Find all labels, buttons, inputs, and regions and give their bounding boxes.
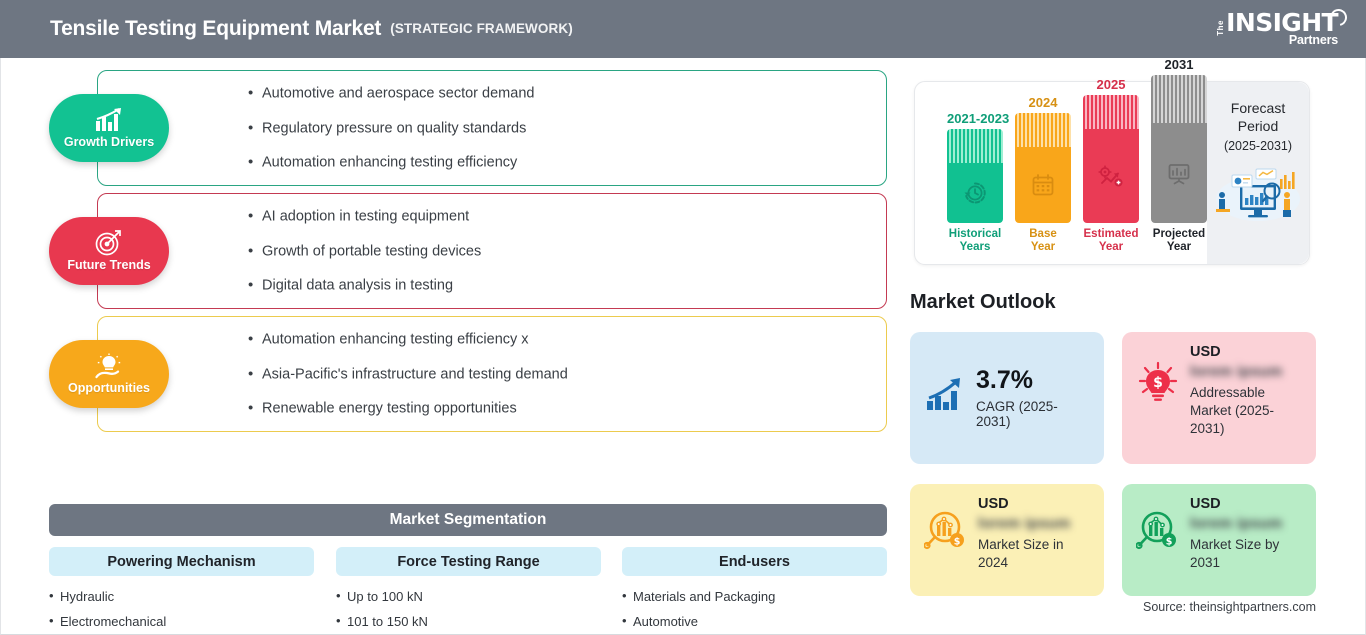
strategy-card-growth-drivers: Automotive and aerospace sector demand R…	[97, 70, 887, 186]
timeline-bar-year: 2025	[1083, 77, 1139, 92]
badge-opportunities[interactable]: Opportunities	[49, 340, 169, 408]
timeline-bar-solid	[1151, 123, 1207, 223]
market-outlook-title: Market Outlook	[910, 291, 1056, 314]
badge-label: Growth Drivers	[64, 135, 154, 149]
card-caption: Addressable Market (2025-2031)	[1190, 384, 1302, 437]
badge-future-trends[interactable]: Future Trends	[49, 217, 169, 285]
timeline-bar-historical: 2021-2023 Historical Years	[947, 111, 1003, 254]
segmentation-item-list: Hydraulic Electromechanical	[49, 590, 314, 628]
presentation-chart-icon	[1166, 160, 1192, 186]
svg-text:$: $	[1153, 375, 1163, 391]
forecast-title-line1: Forecast	[1231, 100, 1285, 116]
outlook-card-market-size-2031[interactable]: $ USD lorem ipsum Market Size by 2031	[1122, 484, 1316, 596]
list-item: AI adoption in testing equipment	[248, 209, 481, 224]
page-subtitle: (STRATEGIC FRAMEWORK)	[390, 21, 573, 37]
timeline-bar-year: 2031	[1151, 57, 1207, 72]
list-item: Regulatory pressure on quality standards	[248, 121, 534, 136]
page-header: Tensile Testing Equipment Market (STRATE…	[0, 0, 1366, 58]
list-item: Hydraulic	[49, 590, 314, 603]
strategy-card-opportunities: Automation enhancing testing efficiency …	[97, 316, 887, 432]
timeline-bar-label: Base Year	[1015, 228, 1071, 254]
timeline-bar-base: 2024	[1015, 95, 1071, 254]
forecast-period-title: Forecast Period	[1231, 100, 1285, 135]
bar-chart-arrow-icon	[92, 107, 126, 133]
gear-chart-icon	[1097, 163, 1125, 189]
svg-text:$: $	[954, 536, 961, 547]
timeline-label-line1: Projected	[1153, 228, 1205, 240]
timeline-bar-label: Projected Year	[1151, 228, 1207, 254]
currency-label: USD	[1190, 496, 1302, 512]
market-segmentation-title: Market Segmentation	[49, 504, 887, 536]
infographic-page: Tensile Testing Equipment Market (STRATE…	[0, 0, 1366, 635]
forecast-period-range: (2025-2031)	[1224, 139, 1292, 153]
blurred-value: lorem ipsum	[1190, 515, 1302, 532]
timeline-bar-solid	[1083, 129, 1139, 223]
list-item: Automation enhancing testing efficiency …	[248, 332, 568, 347]
list-item: Automotive and aerospace sector demand	[248, 86, 534, 101]
timeline-bar-solid	[1015, 147, 1071, 223]
outlook-card-cagr[interactable]: 3.7% CAGR (2025-2031)	[910, 332, 1104, 464]
timeline-bar-solid	[947, 163, 1003, 223]
source-attribution: Source: theinsightpartners.com	[1143, 600, 1316, 614]
growth-drivers-bullet-list: Automotive and aerospace sector demand R…	[248, 86, 534, 170]
lightbulb-dollar-icon: $	[1136, 360, 1180, 411]
card-caption: Market Size in 2024	[978, 536, 1090, 572]
timeline-label-line2: Year	[1099, 241, 1123, 253]
list-item: Asia-Pacific's infrastructure and testin…	[248, 367, 568, 382]
analytics-dashboard-illustration	[1210, 165, 1306, 228]
clock-history-icon	[962, 180, 988, 206]
badge-growth-drivers[interactable]: Growth Drivers	[49, 94, 169, 162]
magnifier-bar-chart-icon: $	[1136, 508, 1180, 557]
timeline-bar-stripe	[1083, 95, 1139, 129]
timeline-bar-year: 2024	[1015, 95, 1071, 110]
timeline-label-line1: Base	[1029, 228, 1057, 240]
list-item: Growth of portable testing devices	[248, 244, 481, 259]
segmentation-item-list: Up to 100 kN 101 to 150 kN 151 to 200 kN	[336, 590, 601, 635]
future-trends-bullet-list: AI adoption in testing equipment Growth …	[248, 209, 481, 293]
currency-label: USD	[1190, 344, 1302, 360]
segmentation-column-header: Powering Mechanism	[49, 547, 314, 576]
segmentation-item-list: Materials and Packaging Automotive Manuf…	[622, 590, 887, 635]
bar-chart-growth-icon	[924, 376, 966, 421]
blurred-value: lorem ipsum	[978, 515, 1090, 532]
forecast-title-line2: Period	[1238, 118, 1278, 134]
opportunities-bullet-list: Automation enhancing testing efficiency …	[248, 332, 568, 416]
forecast-period-panel: 2021-2023 Historical Years	[914, 81, 1310, 265]
timeline-bar-body	[947, 129, 1003, 223]
segmentation-column-end-users: End-users Materials and Packaging Automo…	[622, 547, 887, 635]
list-item: Up to 100 kN	[336, 590, 601, 603]
list-item: Automotive	[622, 615, 887, 628]
badge-label: Future Trends	[67, 258, 150, 272]
list-item: Automation enhancing testing efficiency	[248, 155, 534, 170]
timeline-bar-stripe	[1151, 75, 1207, 123]
segmentation-column-force-testing-range: Force Testing Range Up to 100 kN 101 to …	[336, 547, 601, 635]
cagr-value: 3.7%	[976, 368, 1090, 393]
timeline-label-line2: Years	[960, 241, 991, 253]
list-item: Electromechanical	[49, 615, 314, 628]
blurred-value: lorem ipsum	[1190, 363, 1302, 380]
insight-partners-logo: The INSIGHT Partners	[1217, 11, 1338, 47]
list-item: Renewable energy testing opportunities	[248, 401, 568, 416]
segmentation-column-powering-mechanism: Powering Mechanism Hydraulic Electromech…	[49, 547, 314, 635]
logo-the-text: The	[1217, 20, 1225, 38]
strategy-card-future-trends: AI adoption in testing equipment Growth …	[97, 193, 887, 309]
segmentation-column-header: Force Testing Range	[336, 547, 601, 576]
logo-wordmark: INSIGHT Partners	[1226, 11, 1338, 46]
timeline-bar-label: Estimated Year	[1083, 228, 1139, 254]
timeline-bar-body	[1083, 95, 1139, 223]
magnifier-bar-chart-icon: $	[924, 508, 968, 557]
timeline-bar-body	[1015, 113, 1071, 223]
card-caption: Market Size by 2031	[1190, 536, 1302, 572]
forecast-period-side: Forecast Period (2025-2031)	[1207, 82, 1309, 264]
timeline-label-line1: Estimated	[1084, 228, 1139, 240]
badge-label: Opportunities	[68, 381, 150, 395]
list-item: Materials and Packaging	[622, 590, 887, 603]
timeline-label-line2: Year	[1167, 241, 1191, 253]
hand-lightbulb-icon	[94, 353, 124, 379]
logo-insight-text: INSIGHT	[1226, 11, 1338, 35]
outlook-card-addressable-market[interactable]: $ USD lorem ipsum Addressable Market (20…	[1122, 332, 1316, 464]
page-title: Tensile Testing Equipment Market	[50, 17, 381, 41]
target-dart-icon	[94, 230, 124, 256]
timeline-bar-stripe	[947, 129, 1003, 163]
svg-text:$: $	[1166, 536, 1173, 547]
list-item: 101 to 150 kN	[336, 615, 601, 628]
timeline-bars: 2021-2023 Historical Years	[929, 82, 1179, 264]
timeline-label-line2: Year	[1031, 241, 1055, 253]
timeline-bar-stripe	[1015, 113, 1071, 147]
timeline-bar-estimated: 2025	[1083, 77, 1139, 254]
currency-label: USD	[978, 496, 1090, 512]
calendar-icon	[1030, 172, 1056, 198]
timeline-bar-projected: 2031 Projected Year	[1151, 57, 1207, 254]
timeline-bar-body	[1151, 75, 1207, 223]
timeline-bar-year: 2021-2023	[947, 111, 1003, 126]
cagr-caption: CAGR (2025-2031)	[976, 399, 1090, 429]
timeline-bar-label: Historical Years	[947, 228, 1003, 254]
outlook-card-market-size-2024[interactable]: $ USD lorem ipsum Market Size in 2024	[910, 484, 1104, 596]
list-item: Digital data analysis in testing	[248, 278, 481, 293]
segmentation-column-header: End-users	[622, 547, 887, 576]
timeline-label-line1: Historical	[949, 228, 1001, 240]
